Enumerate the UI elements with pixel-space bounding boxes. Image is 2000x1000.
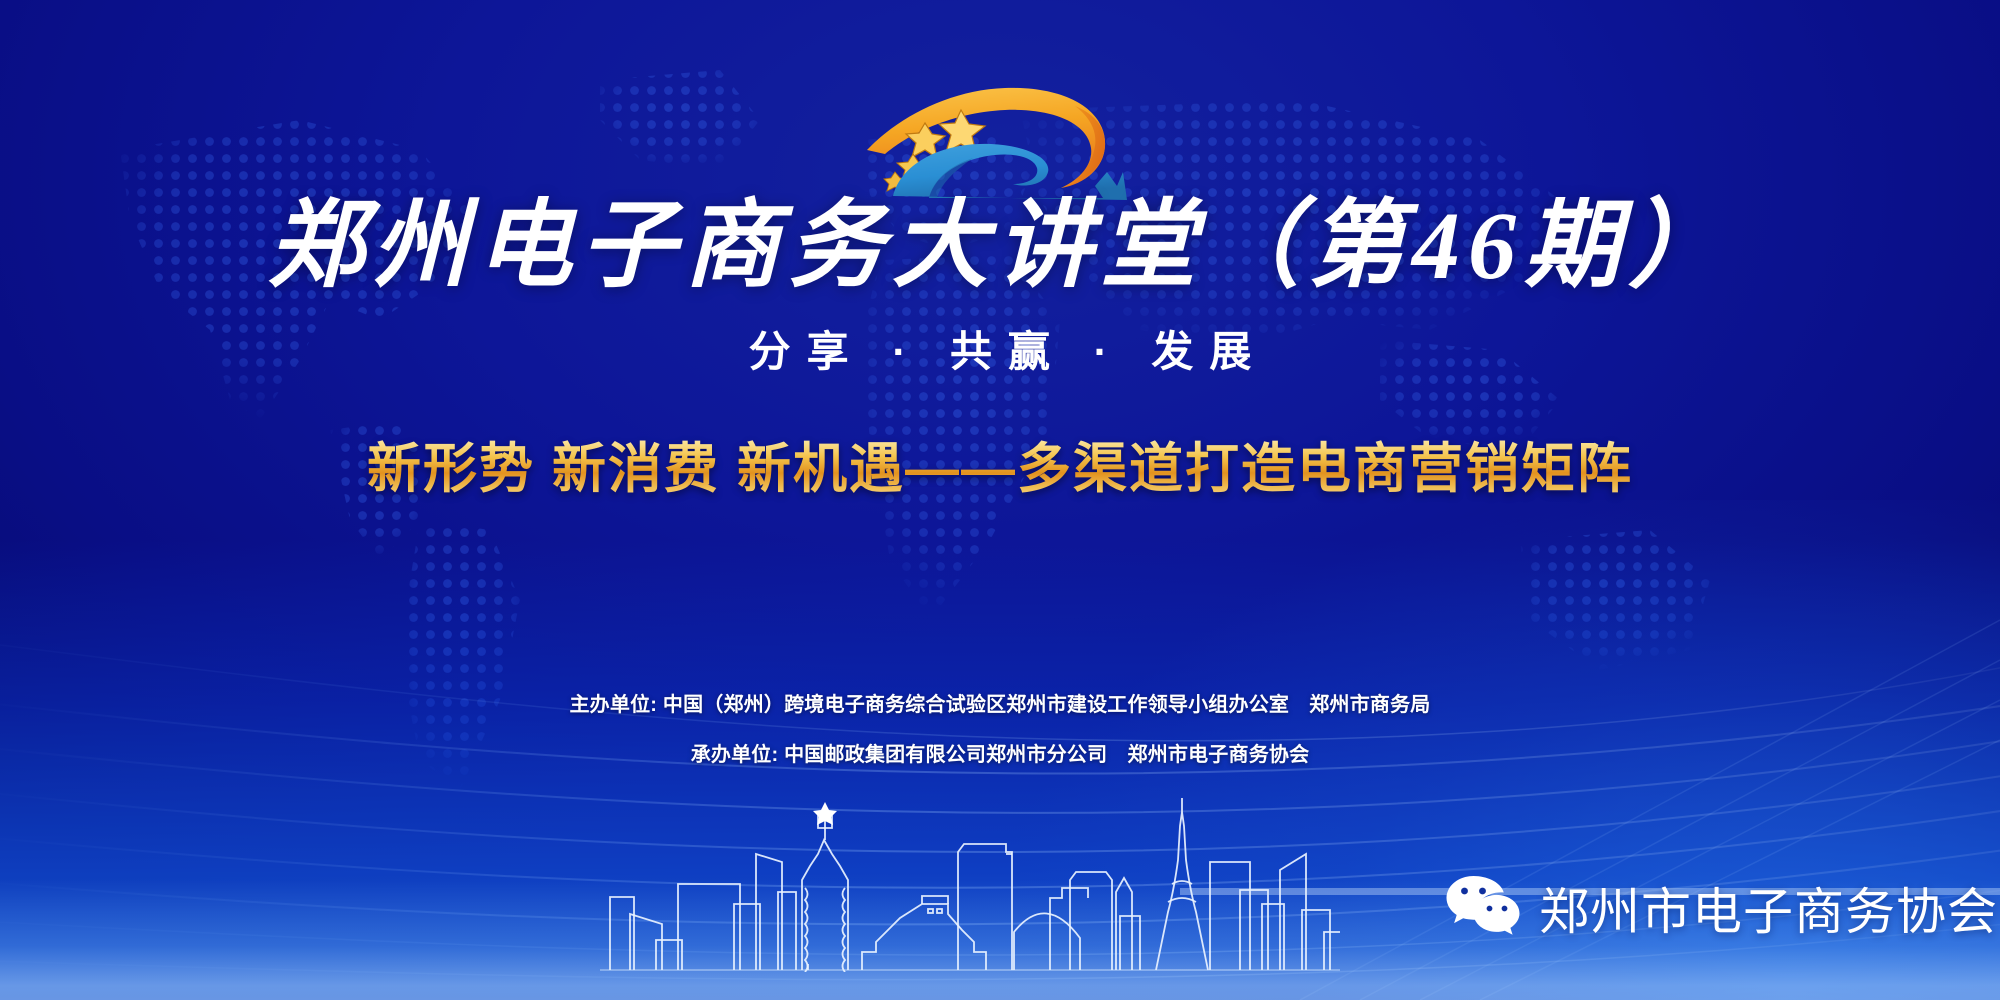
- banner-poster: 郑州电子商务大讲堂（第46期） 分享 · 共赢 · 发展 新形势 新消费 新机遇…: [0, 0, 2000, 1000]
- undertaker-line: 承办单位: 中国邮政集团有限公司郑州市分公司 郑州市电子商务协会: [0, 738, 2000, 767]
- ecommerce-swoosh-star-logo: [855, 68, 1155, 203]
- organizer-line: 主办单位: 中国（郑州）跨境电子商务综合试验区郑州市建设工作领导小组办公室 郑州…: [0, 688, 2000, 717]
- page-title: 郑州电子商务大讲堂（第46期）: [0, 196, 2000, 297]
- session-headline: 新形势 新消费 新机遇——多渠道打造电商营销矩阵: [0, 424, 2000, 503]
- wechat-icon: [1445, 873, 1521, 944]
- page-subtitle: 分享 · 共赢 · 发展: [0, 318, 2000, 379]
- wechat-account-name: 郑州市电子商务协会: [1539, 872, 1998, 944]
- wechat-badge: 郑州市电子商务协会: [1445, 872, 1998, 944]
- city-skyline-outline: [600, 792, 1340, 972]
